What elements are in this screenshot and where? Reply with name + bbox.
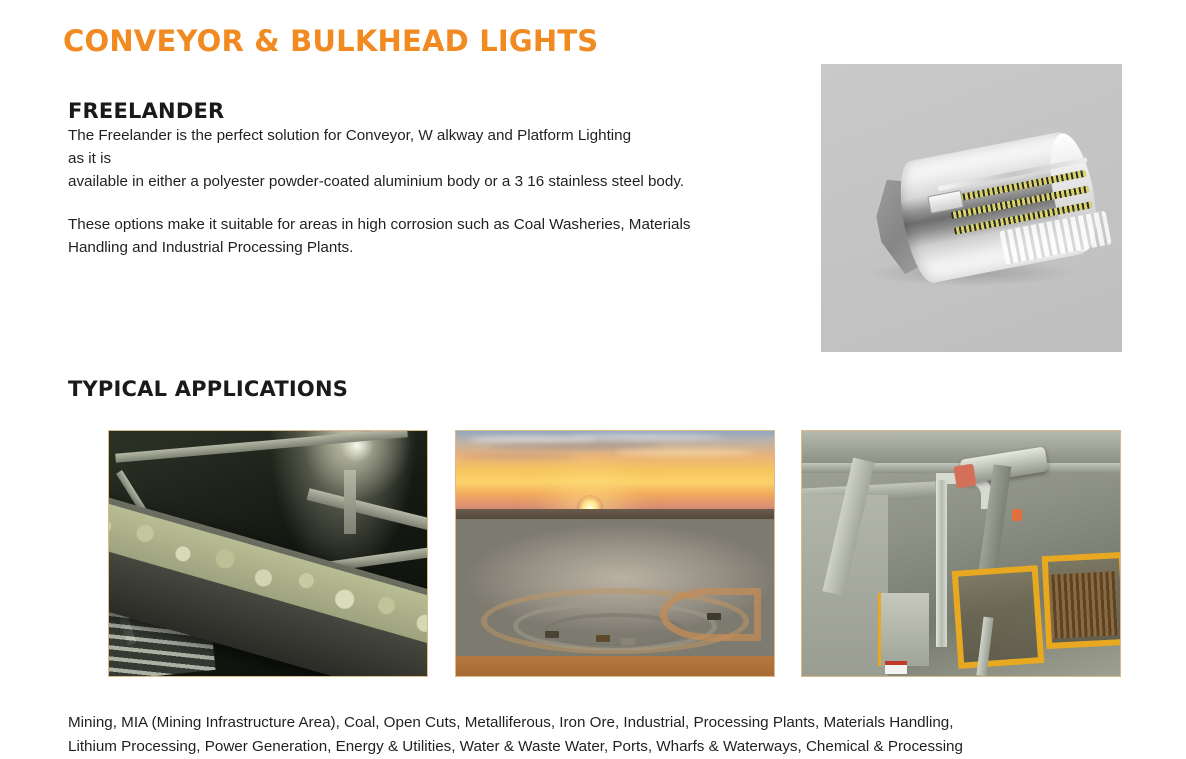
- application-photo-open-cut-mine: [455, 430, 775, 677]
- application-photo-processing-plant: [801, 430, 1121, 677]
- cloud-shape: [615, 449, 755, 456]
- steel-post-shape: [344, 470, 356, 534]
- cloud-shape: [462, 454, 576, 459]
- applications-caption: Mining, MIA (Mining Infrastructure Area)…: [68, 711, 1068, 759]
- product-heading: FREELANDER: [68, 99, 224, 123]
- cloud-shape: [570, 434, 723, 440]
- mining-vehicle-shape: [707, 613, 721, 620]
- open-cut-mine-scene: [456, 431, 774, 676]
- luminaire-end-cap-shape: [953, 464, 976, 489]
- mine-pit-shape: [456, 519, 774, 676]
- mining-vehicle-shape: [545, 631, 559, 638]
- foreground-ground-shape: [456, 656, 774, 676]
- cloud-shape: [488, 443, 663, 449]
- safety-guard-rail-shape: [951, 565, 1043, 669]
- processing-plant-scene: [802, 431, 1120, 676]
- product-photo: [821, 64, 1122, 352]
- orange-clip-shape: [1012, 509, 1022, 521]
- product-description-paragraph-1: The Freelander is the perfect solution f…: [68, 124, 758, 193]
- application-photo-conveyor: [108, 430, 428, 677]
- sunset-sky-shape: [456, 431, 774, 519]
- grating-shape: [1048, 571, 1118, 638]
- mining-vehicle-shape: [621, 638, 635, 645]
- control-panel-shape: [878, 593, 929, 667]
- conduit-shape: [936, 480, 947, 647]
- conveyor-scene: [109, 431, 427, 676]
- applications-heading: TYPICAL APPLICATIONS: [68, 377, 348, 401]
- product-description-paragraph-2: These options make it suitable for areas…: [68, 213, 758, 259]
- page-title: CONVEYOR & BULKHEAD LIGHTS: [63, 24, 598, 58]
- mining-vehicle-shape: [596, 635, 610, 642]
- warning-sign-shape: [885, 661, 907, 674]
